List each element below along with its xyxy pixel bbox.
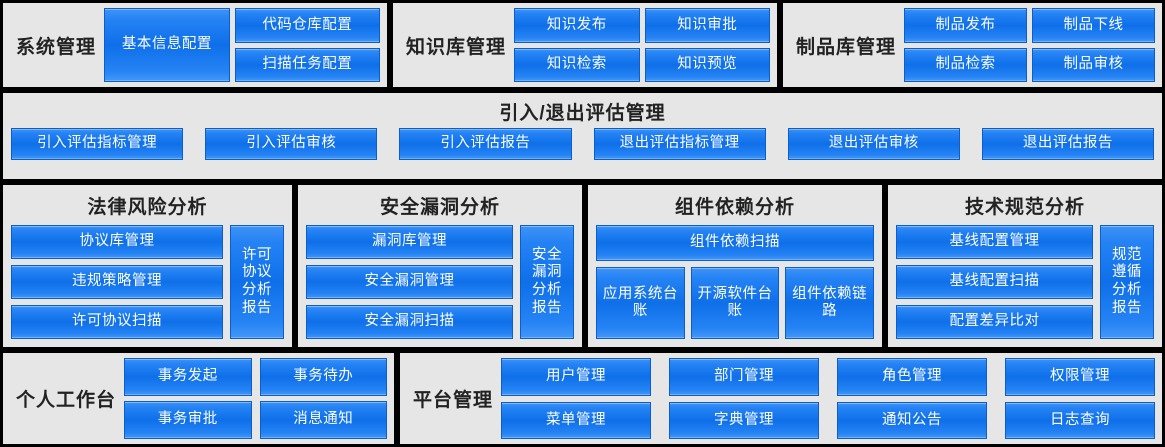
button-license-library-management[interactable]: 协议库管理: [11, 225, 223, 259]
button-artifact-publish[interactable]: 制品发布: [904, 8, 1027, 43]
button-exit-assessment-review[interactable]: 退出评估审核: [788, 128, 960, 160]
panel-title-component-dependency-analysis: 组件依赖分析: [596, 189, 874, 225]
button-task-todo[interactable]: 事务待办: [260, 358, 388, 396]
button-user-management[interactable]: 用户管理: [501, 358, 651, 396]
button-task-approval[interactable]: 事务审批: [124, 401, 251, 439]
vuln-report-line-3: 分析: [532, 282, 562, 300]
row-analysis: 法律风险分析 协议库管理 违规策略管理 许可协议扫描 许可 协议 分析 报告: [0, 182, 1165, 350]
panel-system-management: 系统管理 基本信息配置 代码仓库配置 扫描任务配置: [0, 0, 390, 90]
panel-title-knowledge-base-management: 知识库管理: [400, 32, 514, 59]
button-security-vulnerability-analysis-report[interactable]: 安全 漏洞 分析 报告: [520, 225, 574, 339]
button-license-analysis-report[interactable]: 许可 协议 分析 报告: [230, 225, 284, 339]
panel-legal-risk-analysis: 法律风险分析 协议库管理 违规策略管理 许可协议扫描 许可 协议 分析 报告: [0, 182, 295, 350]
button-specification-compliance-analysis-report[interactable]: 规范 遵循 分析 报告: [1100, 225, 1154, 339]
button-config-difference-comparison[interactable]: 配置差异比对: [896, 305, 1093, 339]
button-entry-assessment-report[interactable]: 引入评估报告: [399, 128, 571, 160]
button-entry-assessment-indicator-management[interactable]: 引入评估指标管理: [11, 128, 183, 160]
button-dictionary-management[interactable]: 字典管理: [669, 402, 819, 440]
architecture-diagram: 系统管理 基本信息配置 代码仓库配置 扫描任务配置 知识库管理 知识发布 知识审…: [0, 0, 1165, 447]
button-component-dependency-chain[interactable]: 组件依赖链路: [785, 267, 874, 339]
vuln-report-line-1: 安全: [532, 247, 562, 265]
button-artifact-search[interactable]: 制品检索: [904, 48, 1027, 83]
panel-artifact-repo-management: 制品库管理 制品发布 制品下线 制品检索 制品审核: [780, 0, 1165, 90]
button-baseline-config-scan[interactable]: 基线配置扫描: [896, 265, 1093, 299]
panel-title-system-management: 系统管理: [10, 32, 104, 59]
button-security-vulnerability-scan[interactable]: 安全漏洞扫描: [306, 305, 513, 339]
button-task-initiate[interactable]: 事务发起: [124, 358, 251, 396]
spec-report-line-2: 遵循: [1112, 264, 1142, 282]
panel-knowledge-base-management: 知识库管理 知识发布 知识审批 知识检索 知识预览: [390, 0, 780, 90]
button-baseline-config-management[interactable]: 基线配置管理: [896, 225, 1093, 259]
button-knowledge-preview[interactable]: 知识预览: [645, 48, 771, 83]
button-notice-announcement[interactable]: 通知公告: [837, 402, 987, 440]
panel-title-personal-workbench: 个人工作台: [10, 385, 124, 412]
panel-title-technical-specification-analysis: 技术规范分析: [896, 189, 1154, 225]
panel-security-vulnerability-analysis: 安全漏洞分析 漏洞库管理 安全漏洞管理 安全漏洞扫描 安全 漏洞 分析 报告: [295, 182, 585, 350]
spec-report-line-4: 报告: [1112, 300, 1142, 318]
button-exit-assessment-report[interactable]: 退出评估报告: [982, 128, 1154, 160]
button-knowledge-approval[interactable]: 知识审批: [645, 8, 771, 43]
panel-body-knowledge-base-management: 知识发布 知识审批 知识检索 知识预览: [514, 8, 770, 82]
button-menu-management[interactable]: 菜单管理: [501, 402, 651, 440]
license-report-line-2: 协议: [242, 264, 272, 282]
button-license-agreement-scan[interactable]: 许可协议扫描: [11, 305, 223, 339]
button-component-dependency-scan[interactable]: 组件依赖扫描: [596, 225, 874, 261]
panel-title-legal-risk-analysis: 法律风险分析: [11, 189, 284, 225]
spec-report-line-3: 分析: [1112, 282, 1142, 300]
vuln-report-line-4: 报告: [532, 300, 562, 318]
button-artifact-offline[interactable]: 制品下线: [1032, 8, 1155, 43]
row-bottom: 个人工作台 事务发起 事务待办 事务审批 消息通知 平台管理 用户管理 部门管理…: [0, 350, 1165, 447]
button-basic-info-config[interactable]: 基本信息配置: [104, 8, 230, 82]
button-application-system-ledger[interactable]: 应用系统台账: [596, 267, 685, 339]
panel-title-artifact-repo-management: 制品库管理: [790, 32, 904, 59]
row-assessment: 引入/退出评估管理 引入评估指标管理 引入评估审核 引入评估报告 退出评估指标管…: [0, 90, 1165, 182]
button-scan-task-config[interactable]: 扫描任务配置: [235, 48, 380, 83]
panel-technical-specification-analysis: 技术规范分析 基线配置管理 基线配置扫描 配置差异比对 规范 遵循 分析 报告: [885, 182, 1165, 350]
button-exit-assessment-indicator-management[interactable]: 退出评估指标管理: [594, 128, 766, 160]
panel-title-platform-management: 平台管理: [407, 385, 501, 412]
button-role-management[interactable]: 角色管理: [837, 358, 987, 396]
panel-platform-management: 平台管理 用户管理 部门管理 角色管理 权限管理 菜单管理 字典管理 通知公告 …: [397, 350, 1165, 447]
panel-title-entry-exit-assessment: 引入/退出评估管理: [9, 97, 1156, 128]
panel-body-personal-workbench: 事务发起 事务待办 事务审批 消息通知: [124, 358, 387, 439]
button-knowledge-search[interactable]: 知识检索: [514, 48, 639, 83]
license-report-line-1: 许可: [242, 247, 272, 265]
button-security-vulnerability-management[interactable]: 安全漏洞管理: [306, 265, 513, 299]
license-report-line-4: 报告: [242, 300, 272, 318]
panel-body-entry-exit-assessment: 引入评估指标管理 引入评估审核 引入评估报告 退出评估指标管理 退出评估审核 退…: [9, 128, 1156, 173]
panel-component-dependency-analysis: 组件依赖分析 组件依赖扫描 应用系统台账 开源软件台账 组件依赖链路: [585, 182, 885, 350]
button-artifact-audit[interactable]: 制品审核: [1032, 48, 1155, 83]
button-message-notification[interactable]: 消息通知: [260, 401, 388, 439]
button-code-repo-config[interactable]: 代码仓库配置: [235, 8, 380, 43]
button-department-management[interactable]: 部门管理: [669, 358, 819, 396]
spec-report-line-1: 规范: [1112, 247, 1142, 265]
button-violation-policy-management[interactable]: 违规策略管理: [11, 265, 223, 299]
button-log-query[interactable]: 日志查询: [1005, 402, 1155, 440]
panel-personal-workbench: 个人工作台 事务发起 事务待办 事务审批 消息通知: [0, 350, 397, 447]
button-entry-assessment-review[interactable]: 引入评估审核: [205, 128, 377, 160]
row-top: 系统管理 基本信息配置 代码仓库配置 扫描任务配置 知识库管理 知识发布 知识审…: [0, 0, 1165, 90]
button-permission-management[interactable]: 权限管理: [1005, 358, 1155, 396]
vuln-report-line-2: 漏洞: [532, 264, 562, 282]
button-open-source-software-ledger[interactable]: 开源软件台账: [691, 267, 780, 339]
panel-body-platform-management: 用户管理 部门管理 角色管理 权限管理 菜单管理 字典管理 通知公告 日志查询: [501, 358, 1155, 439]
panel-title-security-vulnerability-analysis: 安全漏洞分析: [306, 189, 574, 225]
panel-body-system-management: 基本信息配置 代码仓库配置 扫描任务配置: [104, 8, 380, 82]
panel-entry-exit-assessment: 引入/退出评估管理 引入评估指标管理 引入评估审核 引入评估报告 退出评估指标管…: [0, 90, 1165, 182]
license-report-line-3: 分析: [242, 282, 272, 300]
button-knowledge-publish[interactable]: 知识发布: [514, 8, 639, 43]
panel-body-artifact-repo-management: 制品发布 制品下线 制品检索 制品审核: [904, 8, 1155, 82]
button-vulnerability-library-management[interactable]: 漏洞库管理: [306, 225, 513, 259]
